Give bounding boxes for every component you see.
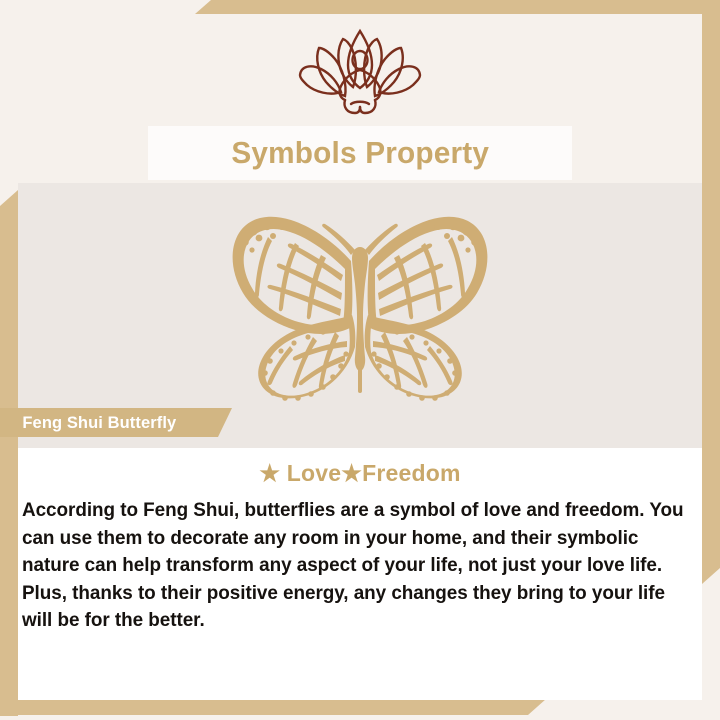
- content-card: ★ Love★Freedom According to Feng Shui, b…: [18, 448, 702, 700]
- lotus-meditation-icon: [285, 28, 435, 125]
- content-subheading: ★ Love★Freedom: [18, 460, 702, 487]
- butterfly-holder: [18, 195, 702, 418]
- decor-band-right: [702, 12, 720, 584]
- ribbon-label: Feng Shui Butterfly: [22, 413, 176, 433]
- butterfly-icon: [195, 195, 525, 418]
- decor-band-left: [0, 190, 18, 716]
- page-title-band: Symbols Property: [148, 126, 572, 180]
- page-root: BUDDHA STONES Symbols Property: [0, 0, 720, 720]
- decor-band-top: [195, 0, 720, 14]
- decor-band-bottom: [0, 699, 546, 715]
- content-paragraph: According to Feng Shui, butterflies are …: [22, 497, 688, 635]
- page-title: Symbols Property: [231, 135, 489, 171]
- feng-shui-ribbon: Feng Shui Butterfly: [0, 408, 232, 437]
- header: BUDDHA STONES Symbols Property: [18, 14, 702, 183]
